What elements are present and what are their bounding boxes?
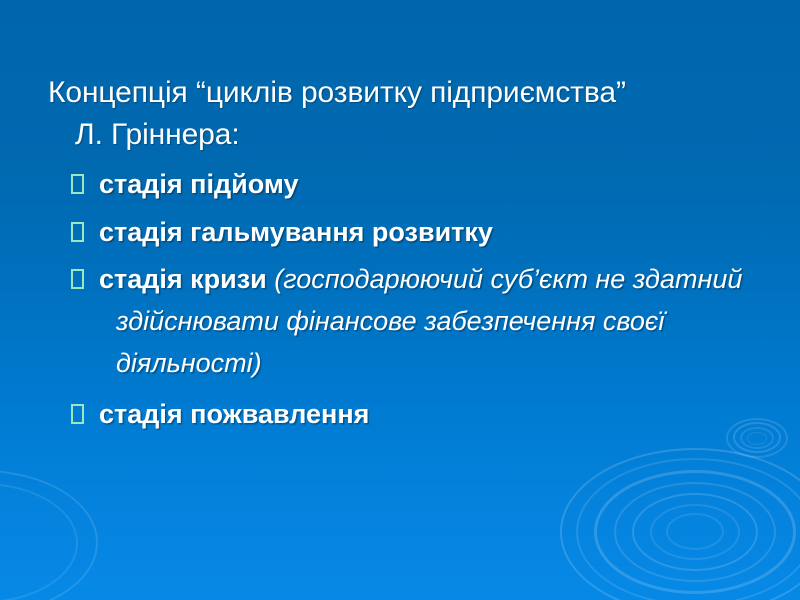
slide-canvas: Концепція “циклів розвитку підприємства”… [0,0,800,600]
ripple-ring [650,504,740,560]
ripple-ring [576,458,800,600]
slide-title-line-1: Концепція “циклів розвитку підприємства” [48,72,776,114]
list-item: стадія гальмування розвитку [24,210,776,254]
ripple-ring [0,470,98,600]
ripple-ring [632,493,758,571]
ripple-ring [614,482,776,582]
list-item-label: стадія пожвавлення [99,399,369,429]
ripple-ring [560,448,800,600]
list-item-label: стадія кризи [99,264,267,294]
tofu-box-bullet-icon [71,269,84,289]
stage-bullet-list: стадія підйому стадія гальмування розвит… [24,162,776,436]
tofu-box-bullet-icon [71,174,84,194]
list-item: стадія підйому [24,162,776,206]
slide-title: Концепція “циклів розвитку підприємства”… [24,72,776,156]
slide-title-line-2: Л. Гріннера: [48,114,776,156]
list-item-label: стадія підйому [99,169,298,199]
water-ripple-decoration-large [560,448,800,600]
tofu-box-bullet-icon [71,404,84,424]
slide-content: Концепція “циклів розвитку підприємства”… [0,0,800,440]
list-item: стадія пожвавлення [24,392,776,436]
ripple-ring [594,470,796,594]
ripple-ring [666,513,724,550]
list-item-label: стадія гальмування розвитку [99,217,493,247]
water-ripple-decoration-left [0,470,98,600]
ripple-ring [0,483,78,600]
list-item: стадія кризи (господарюючий суб’єкт не з… [24,258,776,384]
tofu-box-bullet-icon [71,222,84,242]
